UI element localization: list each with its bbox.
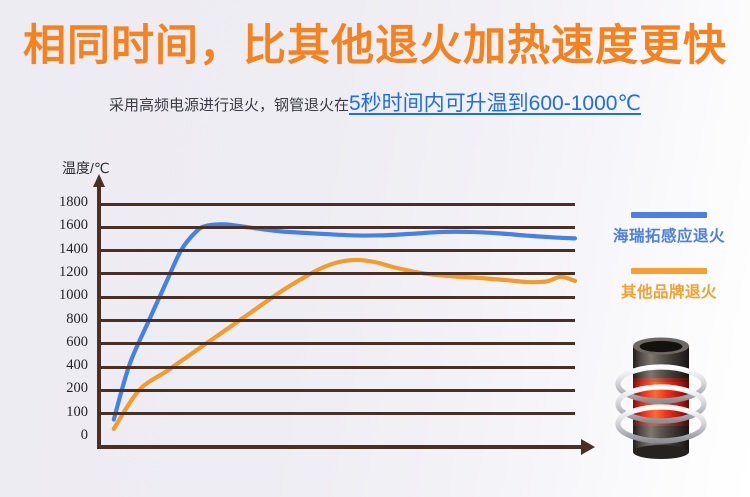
gridline-800 xyxy=(97,319,575,322)
y-axis-tick-0: 0 xyxy=(40,427,88,444)
chart-plot-area xyxy=(97,140,597,497)
gridline-1200 xyxy=(97,272,575,275)
y-axis-tick-1400: 1400 xyxy=(40,241,88,258)
subtitle-plain-text: 采用高频电源进行退火，钢管退火在 xyxy=(109,97,349,114)
induction-coil-heating-steel-pipe-image xyxy=(600,326,722,478)
y-axis-tick-1800: 1800 xyxy=(40,194,88,211)
y-axis-tick-200: 200 xyxy=(40,380,88,397)
y-axis-tick-1200: 1200 xyxy=(40,264,88,281)
y-axis-tick-400: 400 xyxy=(40,357,88,374)
y-axis-tick-1600: 1600 xyxy=(40,217,88,234)
gridline-1000 xyxy=(97,296,575,299)
gridline-400 xyxy=(97,366,575,369)
promo-page: 相同时间，比其他退火加热速度更快 采用高频电源进行退火，钢管退火在5秒时间内可升… xyxy=(0,0,750,497)
gridline-1800 xyxy=(97,203,575,206)
y-axis-tick-100: 100 xyxy=(40,404,88,421)
gridline-1400 xyxy=(97,249,575,252)
y-axis-tick-800: 800 xyxy=(40,311,88,328)
subtitle: 采用高频电源进行退火，钢管退火在5秒时间内可升温到600-1000℃ xyxy=(0,92,750,115)
legend-label-hairuituo: 海瑞拓感应退火 xyxy=(588,224,750,246)
gridline-600 xyxy=(97,342,575,345)
subtitle-highlight-text: 5秒时间内可升温到600-1000℃ xyxy=(349,92,641,115)
chart-legend: 海瑞拓感应退火 其他品牌退火 xyxy=(588,212,750,324)
gridline-200 xyxy=(97,389,575,392)
y-axis-tick-labels: 180016001400120010008006004002001000 xyxy=(0,140,88,497)
gridline-1600 xyxy=(97,226,575,229)
page-title: 相同时间，比其他退火加热速度更快 xyxy=(0,22,750,70)
y-axis-tick-1000: 1000 xyxy=(40,287,88,304)
gridline-100 xyxy=(97,412,575,415)
legend-item-other-brands: 其他品牌退火 xyxy=(588,268,750,302)
legend-swatch-blue xyxy=(631,212,707,218)
y-axis-tick-600: 600 xyxy=(40,334,88,351)
legend-swatch-orange xyxy=(631,268,707,274)
legend-item-hairuituo: 海瑞拓感应退火 xyxy=(588,212,750,246)
legend-label-other-brands: 其他品牌退火 xyxy=(588,280,750,302)
